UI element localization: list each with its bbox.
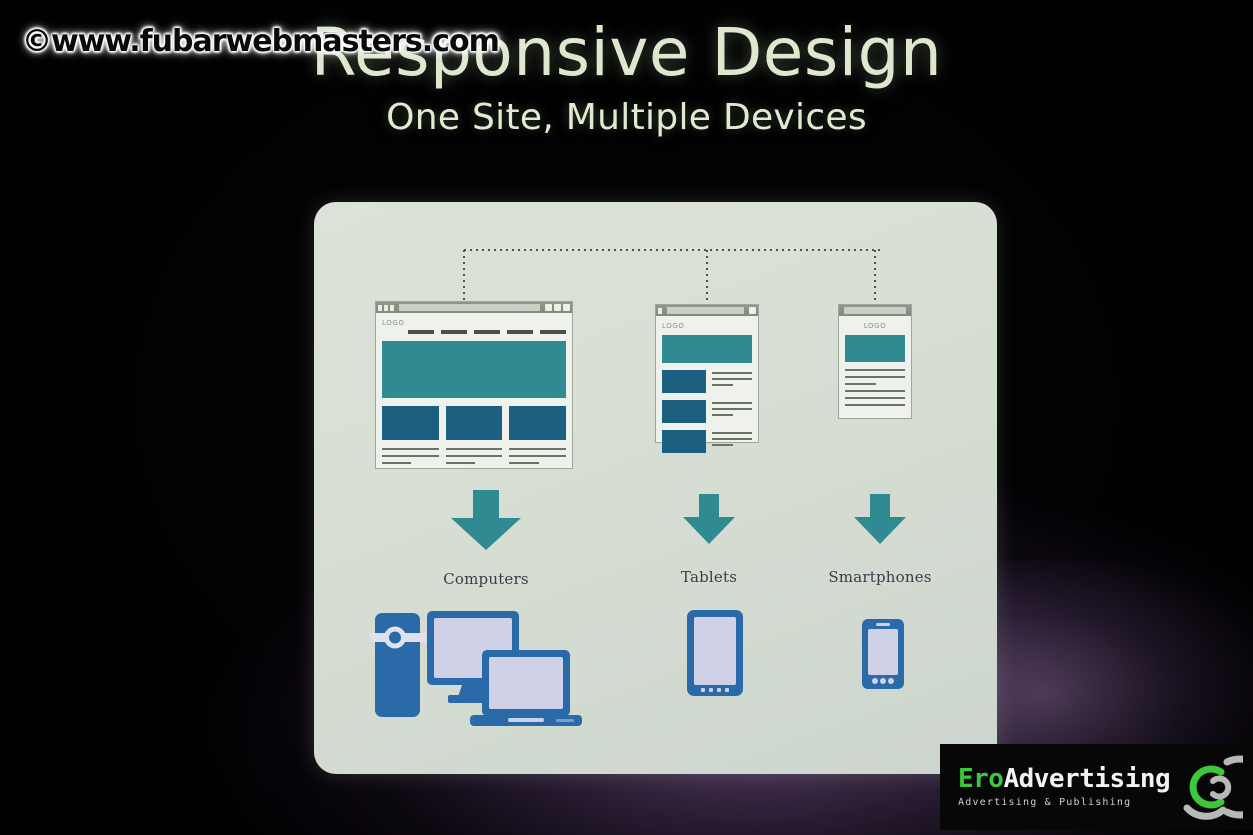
browser-reload-icon [390, 305, 394, 311]
list-text [712, 370, 752, 386]
arrow-smartphones-icon [851, 494, 909, 546]
text-line [845, 383, 876, 385]
text-column [382, 448, 439, 464]
text-line [509, 462, 538, 464]
list-item [662, 430, 752, 453]
list-text [712, 430, 752, 446]
hero-banner [382, 341, 566, 398]
text-column [446, 448, 503, 464]
card-row [382, 406, 566, 440]
tower-icon [370, 613, 426, 717]
label-tablets: Tablets [639, 568, 779, 586]
nav-item [408, 330, 434, 334]
text-line [845, 404, 905, 406]
label-computers: Computers [406, 570, 566, 588]
text-column [845, 369, 905, 406]
smartphone-icon [862, 619, 904, 689]
browser-address-bar [399, 304, 540, 311]
content-card [446, 406, 503, 440]
brand-name: EroAdvertising [958, 766, 1170, 792]
eroadvertising-swirl-icon [1165, 754, 1243, 820]
site-logo-label: LOGO [382, 319, 566, 327]
browser-title-bar [376, 302, 572, 313]
tablet-page-body: LOGO [656, 316, 758, 459]
list-item [662, 400, 752, 423]
label-smartphones: Smartphones [810, 568, 950, 586]
window-minimize-icon [545, 304, 552, 311]
nav-item [540, 330, 566, 334]
content-card [382, 406, 439, 440]
list-text [712, 400, 752, 416]
site-logo-label: LOGO [845, 322, 905, 330]
slide-photo: Responsive Design One Site, Multiple Dev… [0, 0, 1253, 835]
text-line [382, 448, 439, 450]
desktop-page-body: LOGO [376, 313, 572, 470]
site-logo-label: LOGO [662, 322, 752, 330]
arrow-tablets-icon [680, 494, 738, 546]
text-line [712, 414, 733, 416]
smartphone-browser-mockup: LOGO [838, 304, 912, 419]
eroadvertising-logo: EroAdvertising Advertising & Publishing [940, 744, 1253, 830]
browser-back-icon [658, 308, 662, 314]
text-line [509, 455, 566, 457]
slide-diagram-panel: LOGO [314, 202, 997, 774]
list-thumbnail [662, 400, 706, 423]
arrow-computers-icon [447, 490, 525, 552]
site-nav [382, 330, 566, 334]
desktop-browser-mockup: LOGO [375, 301, 573, 469]
brand-tagline: Advertising & Publishing [958, 797, 1170, 808]
nav-item [474, 330, 500, 334]
browser-back-icon [378, 305, 382, 311]
computers-device-icons [370, 607, 586, 729]
text-line [845, 376, 905, 378]
text-line [712, 402, 752, 404]
text-columns [382, 448, 566, 464]
text-line [845, 369, 905, 371]
tablet-browser-mockup: LOGO [655, 304, 759, 443]
hero-banner [662, 335, 752, 363]
browser-forward-icon [384, 305, 388, 311]
text-line [712, 384, 733, 386]
text-line [712, 372, 752, 374]
list-item [662, 370, 752, 393]
phone-page-body: LOGO [839, 316, 911, 412]
browser-address-bar [844, 307, 906, 314]
list-thumbnail [662, 430, 706, 453]
text-line [712, 438, 752, 440]
brand-name-ero: Ero [958, 764, 1003, 794]
window-maximize-icon [554, 304, 561, 311]
laptop-icon [470, 650, 582, 726]
tablet-icon [687, 610, 743, 696]
window-close-icon [749, 307, 756, 314]
list-thumbnail [662, 370, 706, 393]
nav-item [507, 330, 533, 334]
text-line [845, 390, 905, 392]
text-line [712, 432, 752, 434]
text-line [446, 448, 503, 450]
text-line [446, 455, 503, 457]
tablets-device-icons [684, 607, 746, 699]
nav-item [441, 330, 467, 334]
text-line [446, 462, 475, 464]
text-line [509, 448, 566, 450]
watermark-text: ©www.fubarwebmasters.com [22, 24, 499, 59]
smartphones-device-icons [859, 616, 907, 692]
text-column [509, 448, 566, 464]
hero-banner [845, 335, 905, 362]
content-card [509, 406, 566, 440]
text-line [382, 462, 411, 464]
tablet-title-bar [656, 305, 758, 316]
phone-title-bar [839, 305, 911, 316]
browser-address-bar [667, 307, 744, 314]
text-line [712, 444, 733, 446]
page-subtitle: One Site, Multiple Devices [0, 97, 1253, 138]
text-line [845, 397, 905, 399]
text-line [712, 408, 752, 410]
eroadvertising-text: EroAdvertising Advertising & Publishing [940, 766, 1170, 808]
text-line [712, 378, 752, 380]
text-line [382, 455, 439, 457]
window-close-icon [563, 304, 570, 311]
brand-name-advertising: Advertising [1003, 764, 1170, 794]
